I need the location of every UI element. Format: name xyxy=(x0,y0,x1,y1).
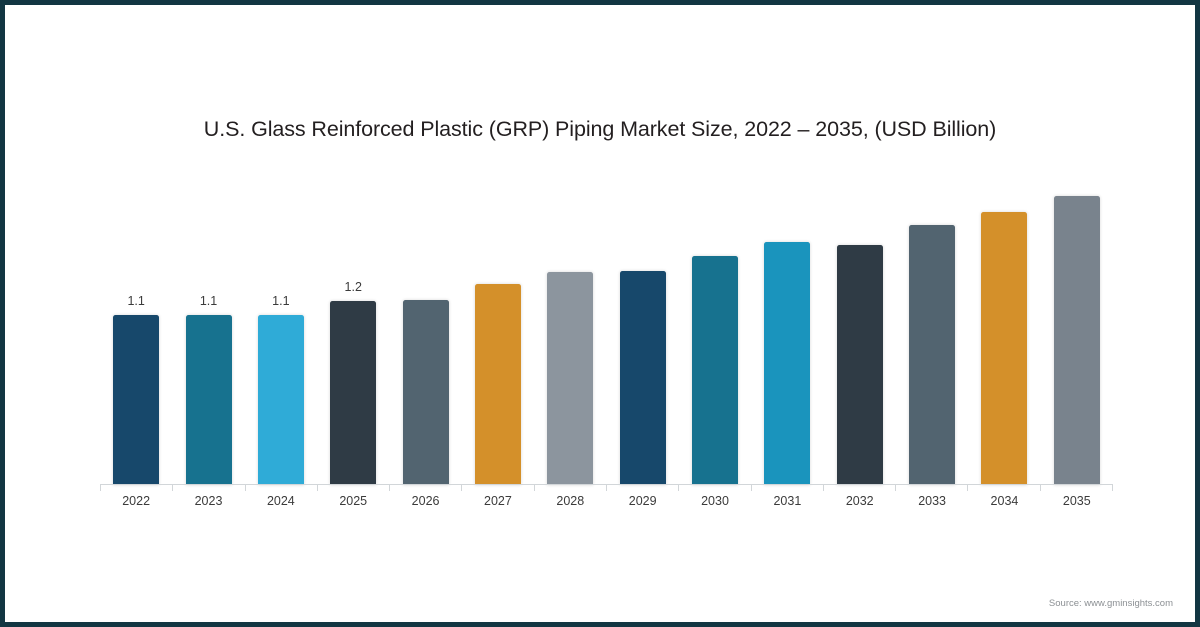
axis-tick xyxy=(461,485,462,491)
bar-rect[interactable] xyxy=(547,272,593,485)
bar-rect[interactable] xyxy=(1054,196,1100,485)
bar-rect[interactable] xyxy=(258,315,304,485)
axis-tick xyxy=(678,485,679,491)
bar-slot-2022[interactable]: 1.1 xyxy=(100,175,172,485)
bar-slot-2027[interactable] xyxy=(462,175,534,485)
axis-tick xyxy=(606,485,607,491)
chart-figure-frame: U.S. Glass Reinforced Plastic (GRP) Pipi… xyxy=(0,0,1200,627)
x-tick-label: 2025 xyxy=(317,494,389,508)
bar-slot-2030[interactable] xyxy=(679,175,751,485)
bar-slot-2031[interactable] xyxy=(751,175,823,485)
x-tick-label: 2028 xyxy=(534,494,606,508)
bar-slot-2023[interactable]: 1.1 xyxy=(172,175,244,485)
bar-rect[interactable] xyxy=(330,301,376,485)
bar-value-label: 1.1 xyxy=(272,295,289,308)
axis-tick xyxy=(967,485,968,491)
bar-rect[interactable] xyxy=(620,271,666,485)
axis-tick xyxy=(389,485,390,491)
x-tick-label: 2022 xyxy=(100,494,172,508)
bar-rect[interactable] xyxy=(909,225,955,485)
axis-tick xyxy=(100,485,101,491)
bar-rect[interactable] xyxy=(692,256,738,485)
bar-value-label: 1.2 xyxy=(345,281,362,294)
x-axis-ticks xyxy=(100,485,1113,491)
bar-rect[interactable] xyxy=(981,212,1027,485)
x-tick-label: 2032 xyxy=(824,494,896,508)
plot-area: 1.11.11.11.2 xyxy=(100,175,1113,485)
bar-rect[interactable] xyxy=(113,315,159,485)
source-attribution: Source: www.gminsights.com xyxy=(1049,598,1173,609)
x-tick-label: 2031 xyxy=(751,494,823,508)
x-tick-label: 2024 xyxy=(245,494,317,508)
x-tick-label: 2035 xyxy=(1041,494,1113,508)
axis-tick xyxy=(1040,485,1041,491)
bar-value-label: 1.1 xyxy=(200,295,217,308)
bar-rect[interactable] xyxy=(403,300,449,485)
axis-tick xyxy=(317,485,318,491)
x-tick-label: 2030 xyxy=(679,494,751,508)
bar-series: 1.11.11.11.2 xyxy=(100,175,1113,485)
x-tick-label: 2026 xyxy=(389,494,461,508)
axis-tick xyxy=(823,485,824,491)
bar-rect[interactable] xyxy=(186,315,232,485)
chart-title: U.S. Glass Reinforced Plastic (GRP) Pipi… xyxy=(5,117,1195,142)
axis-tick xyxy=(534,485,535,491)
axis-tick xyxy=(895,485,896,491)
bar-value-label: 1.1 xyxy=(127,295,144,308)
bar-slot-2034[interactable] xyxy=(968,175,1040,485)
bar-slot-2032[interactable] xyxy=(824,175,896,485)
x-tick-label: 2034 xyxy=(968,494,1040,508)
bar-slot-2029[interactable] xyxy=(607,175,679,485)
bar-slot-2026[interactable] xyxy=(389,175,461,485)
x-tick-label: 2033 xyxy=(896,494,968,508)
axis-tick xyxy=(172,485,173,491)
x-tick-label: 2029 xyxy=(607,494,679,508)
bar-slot-2035[interactable] xyxy=(1041,175,1113,485)
axis-tick xyxy=(245,485,246,491)
axis-tick xyxy=(1112,485,1113,491)
axis-tick xyxy=(751,485,752,491)
chart-canvas: U.S. Glass Reinforced Plastic (GRP) Pipi… xyxy=(5,5,1195,622)
x-axis-tick-labels: 2022202320242025202620272028202920302031… xyxy=(100,494,1113,508)
bar-slot-2033[interactable] xyxy=(896,175,968,485)
x-tick-label: 2027 xyxy=(462,494,534,508)
bar-rect[interactable] xyxy=(764,242,810,485)
x-tick-label: 2023 xyxy=(172,494,244,508)
bar-slot-2024[interactable]: 1.1 xyxy=(245,175,317,485)
bar-slot-2028[interactable] xyxy=(534,175,606,485)
bar-rect[interactable] xyxy=(837,245,883,485)
bar-slot-2025[interactable]: 1.2 xyxy=(317,175,389,485)
bar-rect[interactable] xyxy=(475,284,521,485)
